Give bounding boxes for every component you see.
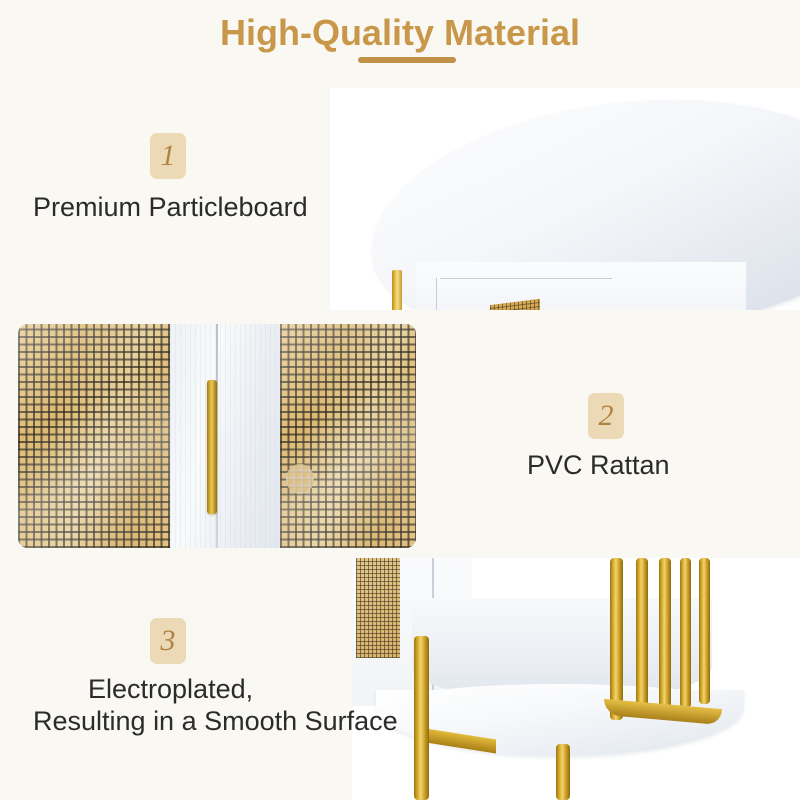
- rattan-mesh-right: [280, 324, 416, 548]
- gold-rail-2: [636, 558, 648, 716]
- feature-3-image-electroplated-legs: [352, 558, 800, 800]
- feature-caption-2: PVC Rattan: [527, 448, 670, 482]
- gold-front-leg-right: [556, 744, 570, 800]
- feature-1-image-particleboard: [330, 88, 800, 310]
- feature-2-image-pvc-rattan: [18, 324, 416, 548]
- infographic-page: High-Quality Material 1 Premium Particle…: [0, 0, 800, 800]
- rattan-sheen-right: [280, 324, 416, 548]
- gold-leg-shape: [392, 270, 402, 310]
- gold-handle-shape: [207, 380, 217, 514]
- feature-caption-3-line1: Electroplated,: [88, 672, 253, 706]
- cabinet-door-seam: [436, 278, 437, 310]
- gold-front-leg-left: [414, 636, 429, 800]
- header-banner: High-Quality Material: [0, 0, 800, 88]
- feature-caption-3-line2: Resulting in a Smooth Surface: [33, 704, 398, 738]
- gold-rail-4: [680, 558, 691, 708]
- cabinet-rattan-panel: [356, 558, 400, 658]
- feature-caption-1: Premium Particleboard: [33, 190, 308, 224]
- feature-number-badge-3: 3: [150, 618, 186, 664]
- cabinet-top-seam: [440, 278, 612, 279]
- rattan-mesh-left: [18, 324, 170, 548]
- gold-rail-1: [610, 558, 623, 720]
- gold-rail-3: [659, 558, 671, 712]
- page-title: High-Quality Material: [0, 12, 800, 54]
- feature-number-badge-2: 2: [588, 393, 624, 439]
- title-underline-rule: [358, 57, 456, 63]
- feature-number-badge-1: 1: [150, 133, 186, 179]
- cabinet-body-shape: [416, 262, 746, 310]
- white-door-panel: [170, 324, 280, 548]
- rattan-sheen-left: [18, 324, 170, 548]
- rattan-weave-highlight-patch: [286, 464, 314, 494]
- gold-rail-5: [699, 558, 710, 704]
